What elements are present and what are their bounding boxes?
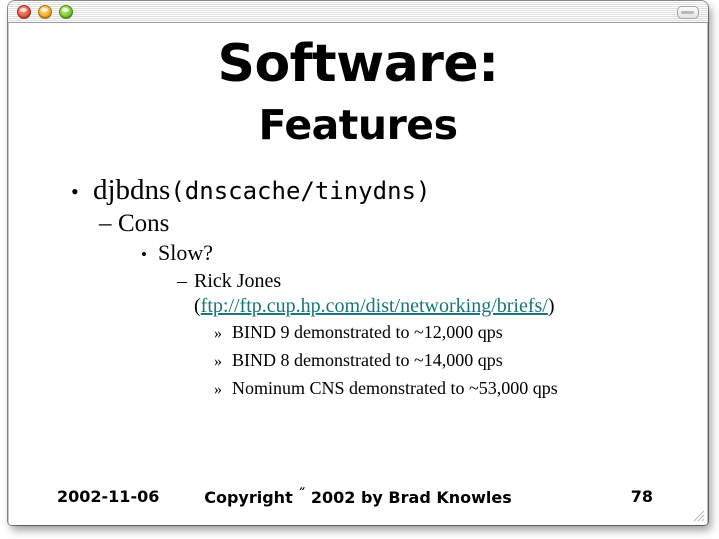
bullet-dot-icon: • bbox=[71, 175, 93, 209]
slide-footer: 2002-11-06 Copyright ˝ 2002 by Brad Know… bbox=[9, 487, 707, 509]
djbdns-label: djbdns bbox=[93, 174, 170, 206]
footer-copyright: Copyright ˝ 2002 by Brad Knowles bbox=[9, 487, 707, 507]
bind8-benchmark-text: BIND 8 demonstrated to ~14,000 qps bbox=[232, 347, 699, 373]
bullet-level3: • Slow? bbox=[141, 239, 699, 269]
bind9-benchmark-text: BIND 9 demonstrated to ~12,000 qps bbox=[232, 319, 699, 345]
bullet-level5: » BIND 8 demonstrated to ~14,000 qps bbox=[214, 347, 699, 375]
url-close-paren: ) bbox=[548, 295, 555, 317]
bullet-level5: » Nominum CNS demonstrated to ~53,000 qp… bbox=[214, 375, 699, 403]
window-body: Software: Features • djbdns(dnscache/tin… bbox=[8, 23, 708, 525]
bullet-dash-icon: – bbox=[177, 269, 194, 294]
bullet-level2: – Cons bbox=[99, 209, 699, 239]
copyright-symbol-icon: ˝ bbox=[298, 487, 305, 503]
screen: Software: Features • djbdns(dnscache/tin… bbox=[0, 0, 719, 539]
slide-title: Software: bbox=[9, 37, 707, 91]
bullet-level2-text: Cons bbox=[118, 209, 699, 239]
zoom-button-icon[interactable] bbox=[59, 5, 73, 19]
resize-grip-icon[interactable] bbox=[693, 510, 705, 522]
bullet-level5: » BIND 9 demonstrated to ~12,000 qps bbox=[214, 319, 699, 347]
bullet-level1-text: djbdns(dnscache/tinydns) bbox=[93, 173, 699, 208]
slide-canvas: Software: Features • djbdns(dnscache/tin… bbox=[9, 23, 707, 525]
nominum-benchmark-text: Nominum CNS demonstrated to ~53,000 qps bbox=[232, 375, 699, 401]
bullet-guillemet-icon: » bbox=[214, 377, 232, 403]
slide-subtitle: Features bbox=[9, 103, 707, 147]
footer-page-number: 78 bbox=[631, 487, 653, 506]
bullet-level1: • djbdns(dnscache/tinydns) bbox=[71, 173, 699, 209]
bullet-guillemet-icon: » bbox=[214, 321, 232, 347]
close-button-icon[interactable] bbox=[17, 5, 31, 19]
url-line: (ftp://ftp.cup.hp.com/dist/networking/br… bbox=[194, 294, 699, 319]
copyright-suffix: 2002 by Brad Knowles bbox=[311, 488, 512, 507]
slide-body: • djbdns(dnscache/tinydns) – Cons • Slow… bbox=[59, 173, 699, 403]
bullet-guillemet-icon: » bbox=[214, 349, 232, 375]
ftp-link[interactable]: ftp://ftp.cup.hp.com/dist/networking/bri… bbox=[201, 295, 548, 317]
bullet-level3-text: Slow? bbox=[158, 239, 699, 267]
bullet-dash-icon: – bbox=[99, 209, 118, 239]
window-controls bbox=[17, 5, 73, 19]
presentation-window: Software: Features • djbdns(dnscache/tin… bbox=[8, 1, 708, 525]
window-titlebar[interactable] bbox=[8, 1, 708, 23]
toolbar-toggle-icon[interactable] bbox=[677, 6, 699, 19]
url-open-paren: ( bbox=[194, 295, 201, 317]
bullet-level4-text: Rick Jones bbox=[194, 269, 699, 294]
djbdns-components: (dnscache/tinydns) bbox=[170, 177, 430, 205]
copyright-prefix: Copyright bbox=[204, 488, 292, 507]
bullet-level4: – Rick Jones bbox=[177, 269, 699, 294]
minimize-button-icon[interactable] bbox=[38, 5, 52, 19]
bullet-dot-icon: • bbox=[141, 241, 158, 269]
